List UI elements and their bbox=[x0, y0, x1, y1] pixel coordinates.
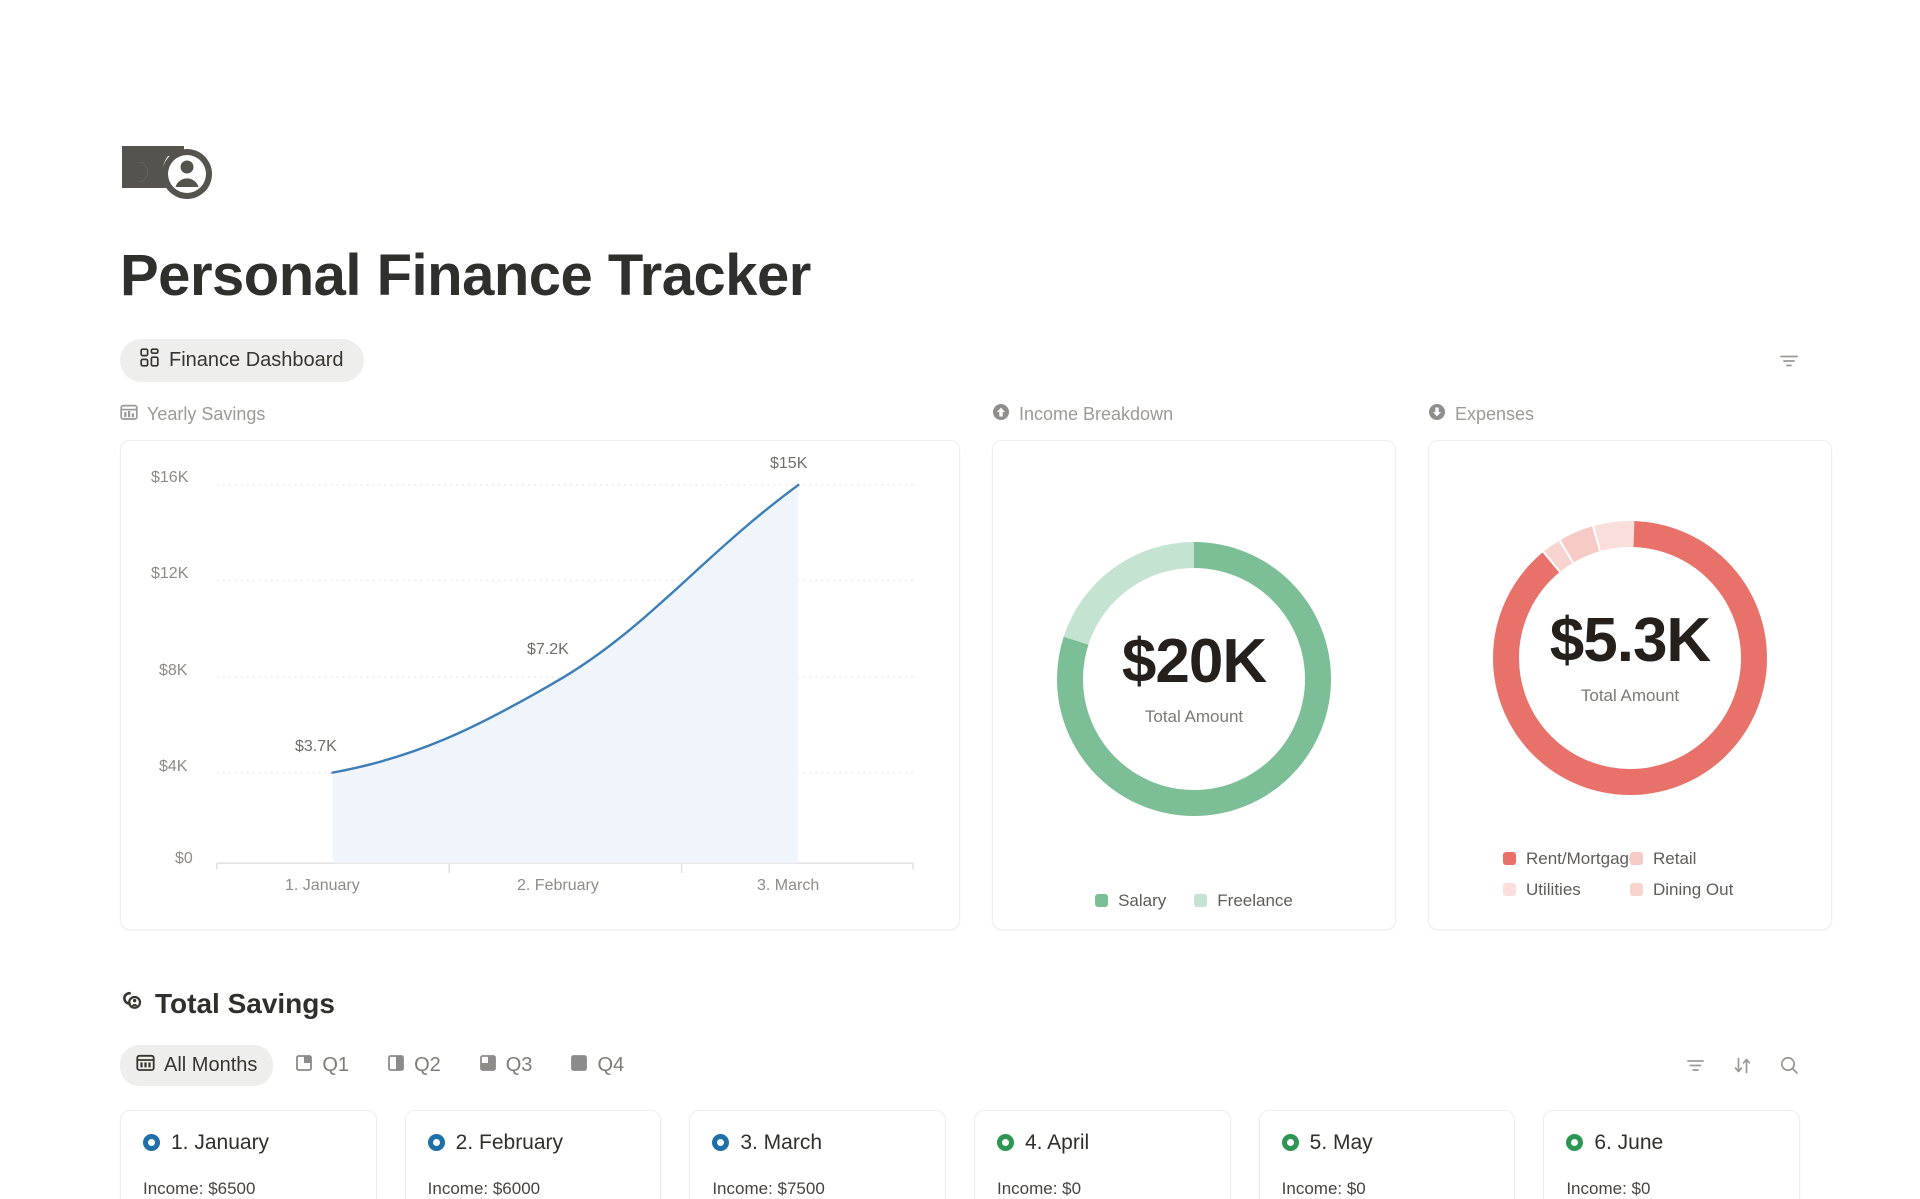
tab-all-months[interactable]: All Months bbox=[120, 1045, 273, 1086]
month-name: 6. June bbox=[1594, 1131, 1663, 1155]
legend-label-retail: Retail bbox=[1653, 849, 1696, 869]
expenses-block-label: Expenses bbox=[1428, 404, 1832, 426]
view-tab-finance-dashboard[interactable]: Finance Dashboard bbox=[120, 339, 364, 382]
month-name: 4. April bbox=[1025, 1131, 1089, 1155]
yearly-savings-block: Yearly Savings bbox=[120, 404, 960, 930]
month-card[interactable]: 4. April Income: $0 bbox=[974, 1110, 1231, 1199]
legend-item-dining-out[interactable]: Dining Out bbox=[1630, 880, 1757, 900]
tab-q4[interactable]: Q4 bbox=[554, 1046, 640, 1086]
status-dot-icon bbox=[1566, 1134, 1583, 1151]
line-chart: $16K $12K $8K $4K $0 $3.7K $7.2K $15K 1.… bbox=[145, 463, 935, 913]
status-dot-icon bbox=[712, 1134, 729, 1151]
layout-grid-icon bbox=[140, 348, 159, 373]
month-income: Income: $7500 bbox=[712, 1179, 923, 1199]
legend-item-retail[interactable]: Retail bbox=[1630, 849, 1757, 869]
page-title: Personal Finance Tracker bbox=[120, 244, 1800, 308]
tab-label-q1: Q1 bbox=[322, 1054, 349, 1077]
tab-q2[interactable]: Q2 bbox=[371, 1046, 457, 1086]
calendar-icon bbox=[136, 1053, 155, 1078]
legend-label-salary: Salary bbox=[1118, 891, 1166, 911]
expenses-card: $5.3K Total Amount Rent/Mortgage Retail bbox=[1428, 440, 1832, 930]
expenses-donut-chart: $5.3K Total Amount bbox=[1449, 467, 1811, 849]
block-label-text: Income Breakdown bbox=[1019, 404, 1173, 425]
tab-label-q3: Q3 bbox=[506, 1054, 533, 1077]
quarter-tabs: All Months Q1 Q2 bbox=[120, 1045, 640, 1086]
total-savings-title: Total Savings bbox=[155, 988, 335, 1020]
legend-swatch-rent-mortgage bbox=[1503, 852, 1516, 865]
filter-icon[interactable] bbox=[1685, 1055, 1706, 1076]
legend-label-dining-out: Dining Out bbox=[1653, 880, 1733, 900]
income-breakdown-block-label: Income Breakdown bbox=[992, 404, 1396, 426]
month-name: 2. February bbox=[456, 1131, 563, 1155]
square-quarter-3-icon bbox=[479, 1054, 497, 1078]
legend-label-freelance: Freelance bbox=[1217, 891, 1293, 911]
bar-chart-calendar-icon bbox=[120, 403, 138, 426]
month-income: Income: $6000 bbox=[428, 1179, 639, 1199]
month-income: Income: $6500 bbox=[143, 1179, 354, 1199]
dashboard-grid: Yearly Savings bbox=[120, 404, 1800, 930]
yearly-savings-block-label: Yearly Savings bbox=[120, 404, 960, 426]
income-breakdown-block: Income Breakdown $20K Total Amount bbox=[992, 404, 1396, 930]
search-icon[interactable] bbox=[1779, 1055, 1800, 1076]
legend-label-rent-mortgage: Rent/Mortgage bbox=[1526, 849, 1638, 869]
legend-item-utilities[interactable]: Utilities bbox=[1503, 880, 1630, 900]
month-card-header: 1. January bbox=[143, 1131, 354, 1155]
legend-item-freelance[interactable]: Freelance bbox=[1194, 891, 1293, 911]
coins-icon bbox=[120, 988, 144, 1020]
expenses-block: Expenses $5.3K Tot bbox=[1428, 404, 1832, 930]
month-card-header: 2. February bbox=[428, 1131, 639, 1155]
square-quarter-1-icon bbox=[295, 1054, 313, 1078]
total-savings-heading: Total Savings bbox=[120, 988, 1800, 1020]
tab-q3[interactable]: Q3 bbox=[463, 1046, 549, 1086]
month-card-header: 6. June bbox=[1566, 1131, 1777, 1155]
income-breakdown-card: $20K Total Amount Salary Freelance bbox=[992, 440, 1396, 930]
tab-label-all-months: All Months bbox=[164, 1054, 257, 1077]
month-name: 1. January bbox=[171, 1131, 269, 1155]
arrow-up-circle-icon bbox=[992, 403, 1010, 426]
month-card-grid: 1. January Income: $6500 2. February Inc… bbox=[120, 1110, 1800, 1199]
status-dot-icon bbox=[428, 1134, 445, 1151]
square-quarter-2-icon bbox=[387, 1054, 405, 1078]
legend-swatch-freelance bbox=[1194, 894, 1207, 907]
legend-label-utilities: Utilities bbox=[1526, 880, 1581, 900]
block-label-text: Expenses bbox=[1455, 404, 1534, 425]
month-card[interactable]: 2. February Income: $6000 bbox=[405, 1110, 662, 1199]
income-donut-svg bbox=[1044, 529, 1344, 829]
total-savings-tabbar: All Months Q1 Q2 bbox=[120, 1046, 1800, 1086]
month-name: 3. March bbox=[740, 1131, 822, 1155]
arrow-down-circle-icon bbox=[1428, 403, 1446, 426]
square-quarter-4-icon bbox=[570, 1054, 588, 1078]
sort-icon[interactable] bbox=[1732, 1055, 1753, 1076]
view-tab-label: Finance Dashboard bbox=[169, 349, 344, 372]
income-donut-chart: $20K Total Amount bbox=[1013, 467, 1375, 891]
month-income: Income: $0 bbox=[1566, 1179, 1777, 1199]
month-income: Income: $0 bbox=[1282, 1179, 1493, 1199]
month-card[interactable]: 6. June Income: $0 bbox=[1543, 1110, 1800, 1199]
status-dot-icon bbox=[1282, 1134, 1299, 1151]
legend-swatch-retail bbox=[1630, 852, 1643, 865]
income-legend: Salary Freelance bbox=[1013, 891, 1375, 911]
legend-swatch-utilities bbox=[1503, 883, 1516, 896]
filter-icon[interactable] bbox=[1778, 350, 1800, 372]
month-card-header: 5. May bbox=[1282, 1131, 1493, 1155]
yearly-savings-chart-card: $16K $12K $8K $4K $0 $3.7K $7.2K $15K 1.… bbox=[120, 440, 960, 930]
month-name: 5. May bbox=[1310, 1131, 1373, 1155]
expenses-donut-svg bbox=[1480, 508, 1780, 808]
block-label-text: Yearly Savings bbox=[147, 404, 265, 425]
month-card-header: 4. April bbox=[997, 1131, 1208, 1155]
table-tools bbox=[1685, 1055, 1800, 1076]
tab-q1[interactable]: Q1 bbox=[279, 1046, 365, 1086]
tab-label-q2: Q2 bbox=[414, 1054, 441, 1077]
view-bar: Finance Dashboard bbox=[120, 340, 1800, 382]
money-person-icon bbox=[120, 130, 224, 202]
status-dot-icon bbox=[143, 1134, 160, 1151]
month-card[interactable]: 3. March Income: $7500 bbox=[689, 1110, 946, 1199]
month-card-header: 3. March bbox=[712, 1131, 923, 1155]
month-income: Income: $0 bbox=[997, 1179, 1208, 1199]
page-root: Personal Finance Tracker Finance Dashboa… bbox=[0, 130, 1920, 1199]
expenses-legend: Rent/Mortgage Retail Utilities Dining Ou… bbox=[1449, 849, 1811, 911]
status-dot-icon bbox=[997, 1134, 1014, 1151]
legend-swatch-salary bbox=[1095, 894, 1108, 907]
month-card[interactable]: 1. January Income: $6500 bbox=[120, 1110, 377, 1199]
tab-label-q4: Q4 bbox=[597, 1054, 624, 1077]
legend-swatch-dining-out bbox=[1630, 883, 1643, 896]
legend-item-rent-mortgage[interactable]: Rent/Mortgage bbox=[1503, 849, 1630, 869]
month-card[interactable]: 5. May Income: $0 bbox=[1259, 1110, 1516, 1199]
legend-item-salary[interactable]: Salary bbox=[1095, 891, 1166, 911]
